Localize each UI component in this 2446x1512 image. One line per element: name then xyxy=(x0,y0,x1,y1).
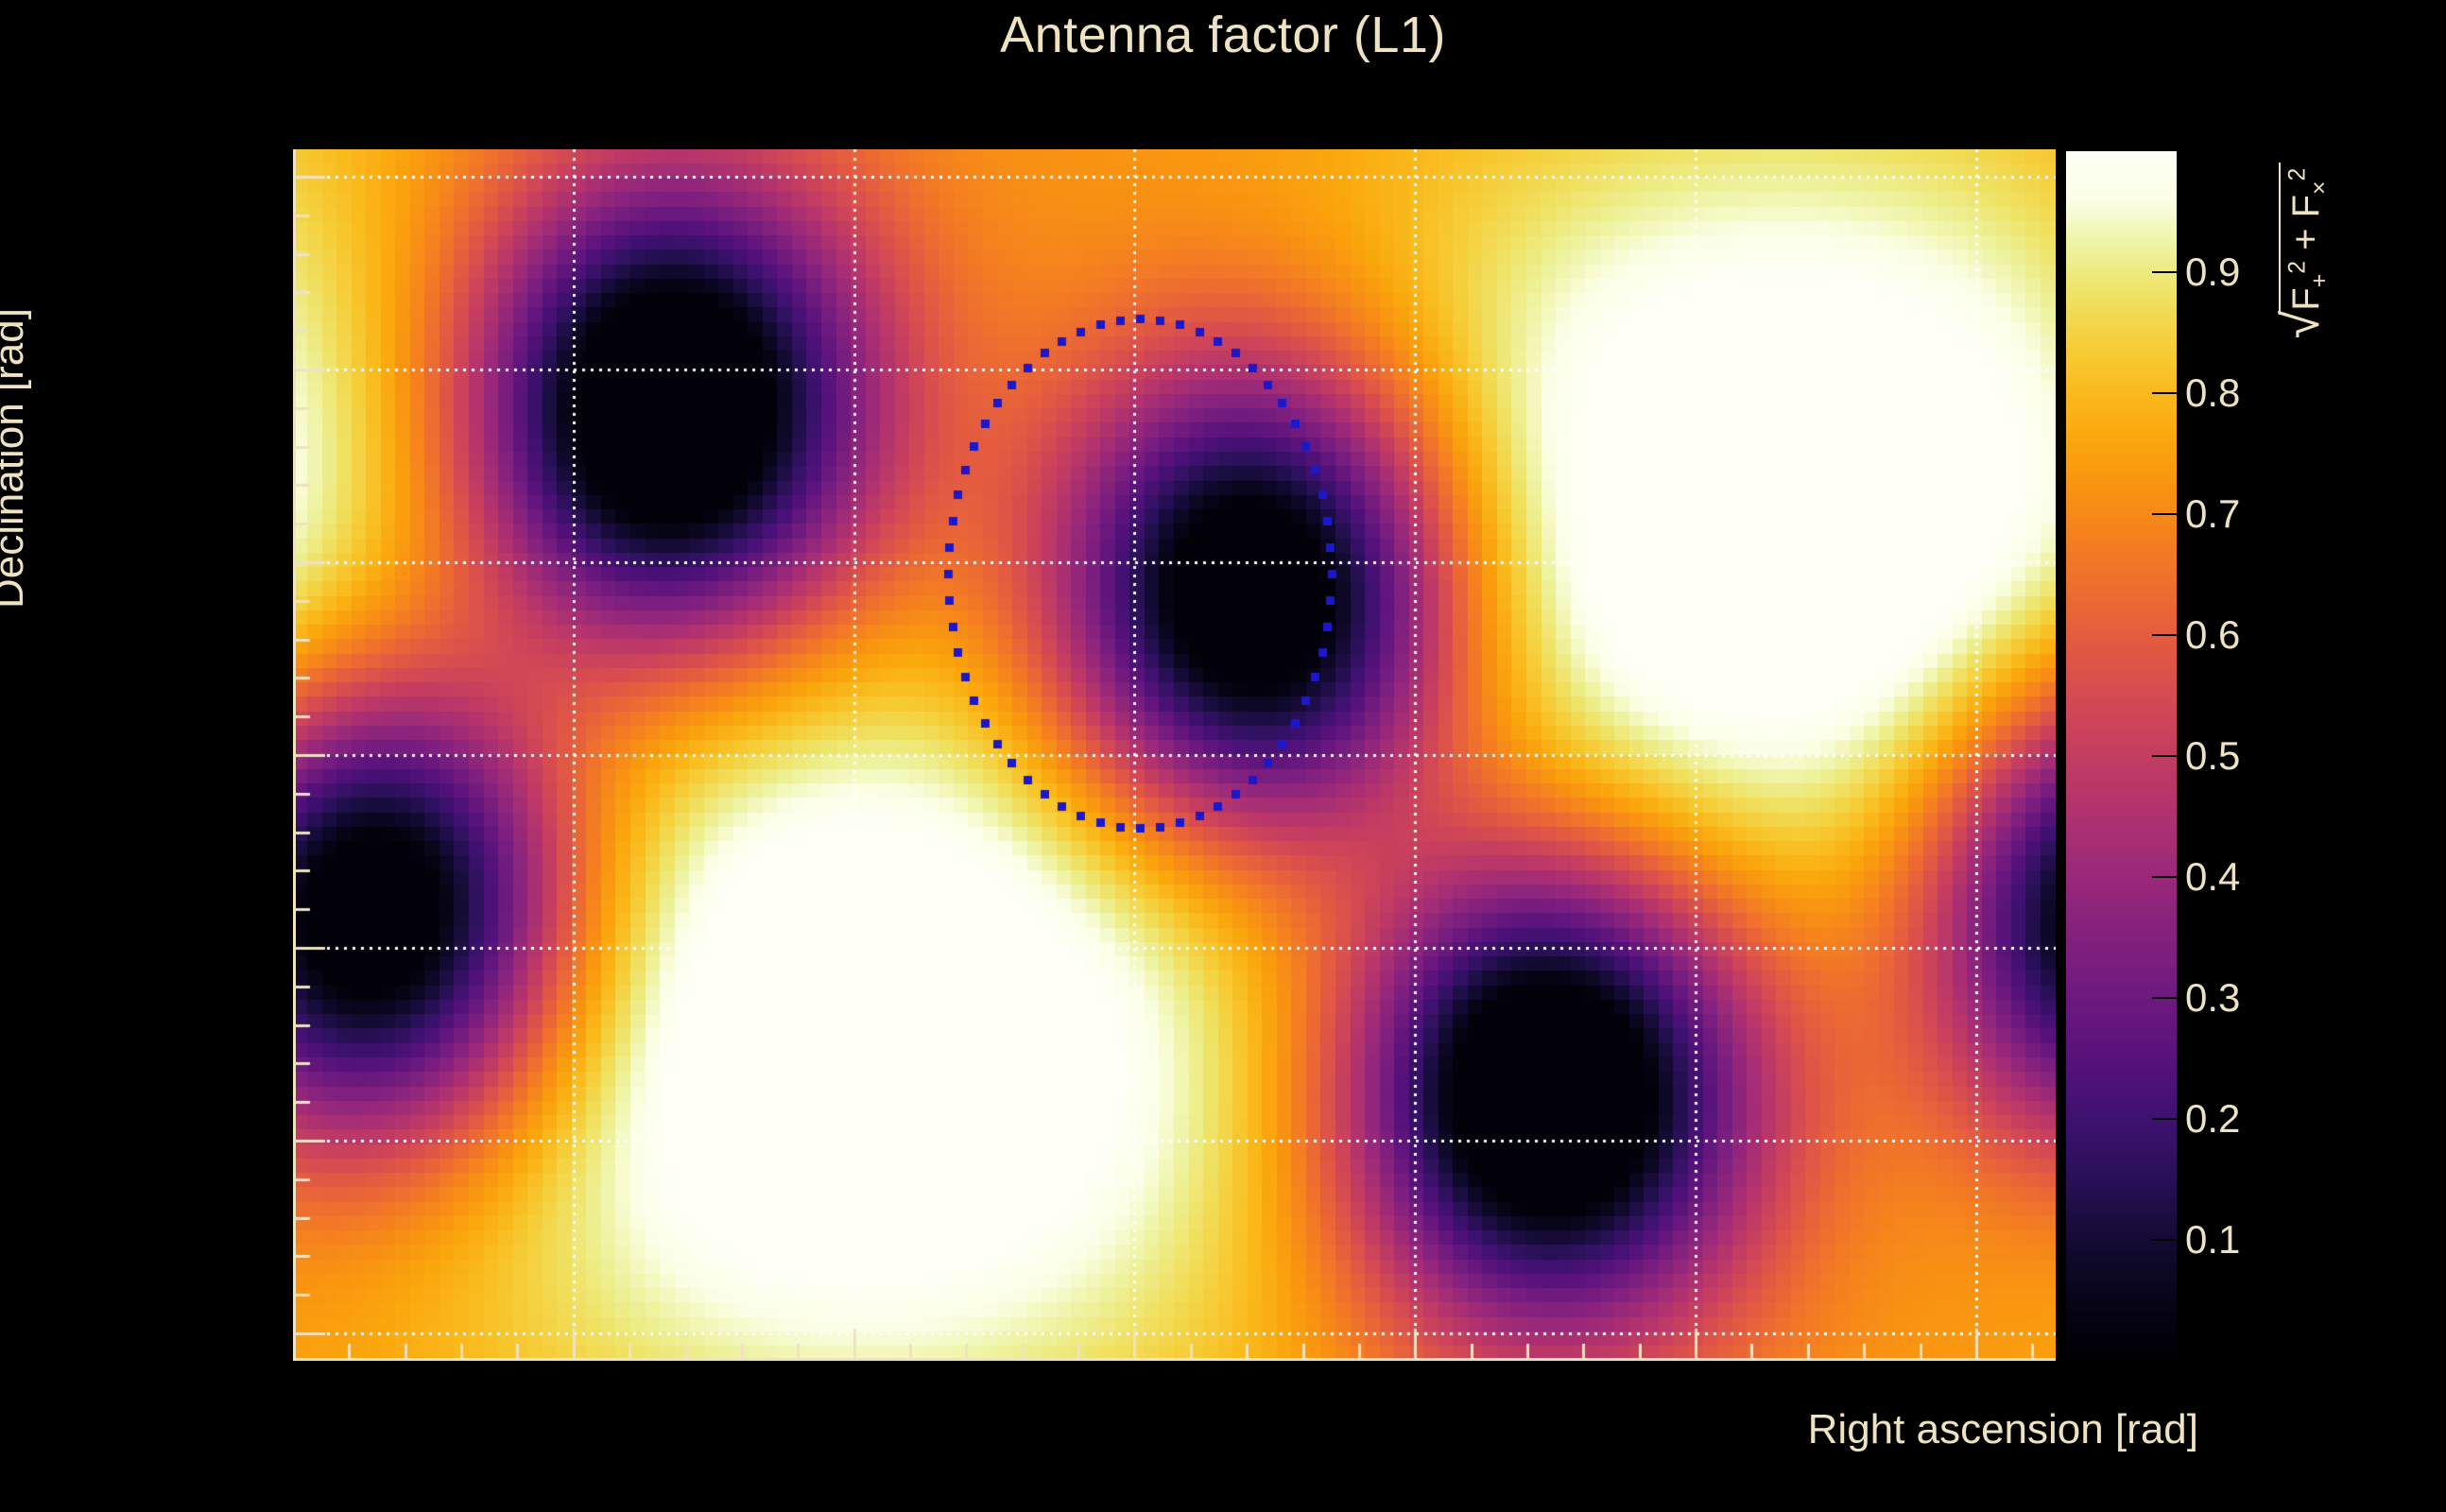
colorbar-tick xyxy=(2152,392,2177,394)
x-axis-tick-label: 3 xyxy=(1124,1376,1145,1421)
plus-operator: + xyxy=(2285,217,2327,249)
colorbar-tick-label: 0.7 xyxy=(2185,491,2240,537)
colorbar-tick xyxy=(2152,876,2177,878)
colorbar-tick-label: 0.1 xyxy=(2185,1217,2240,1263)
colorbar-title-host: √ F+2 + F×2 xyxy=(2249,94,2363,406)
x-axis-title: Right ascension [rad] xyxy=(1808,1406,2198,1453)
colorbar-tick-label: 0.4 xyxy=(2185,854,2240,900)
x-axis-tick-label: 4 xyxy=(1404,1376,1426,1421)
colorbar-tick xyxy=(2152,1118,2177,1120)
colorbar-title: √ F+2 + F×2 xyxy=(2265,94,2347,406)
sqrt-icon: √ xyxy=(2279,311,2333,339)
colorbar-tick-label: 0.5 xyxy=(2185,733,2240,779)
colorbar-tick xyxy=(2152,755,2177,757)
x-axis-tick-label: 2 xyxy=(843,1376,865,1421)
colorbar-tick xyxy=(2152,513,2177,515)
f-plus-term: F+2 xyxy=(2285,261,2327,311)
colorbar-tick xyxy=(2152,1239,2177,1241)
colorbar-tick-label: 0.3 xyxy=(2185,975,2240,1021)
x-axis-tick-label: 0 xyxy=(282,1376,303,1421)
colorbar-tick xyxy=(2152,271,2177,273)
colorbar[interactable]: 0.90.80.70.60.50.40.30.20.1 xyxy=(2066,151,2177,1361)
x-axis-tick-label: 1 xyxy=(562,1376,584,1421)
colorbar-tick xyxy=(2152,634,2177,636)
colorbar-tick-label: 0.2 xyxy=(2185,1096,2240,1142)
colorbar-tick-label: 0.9 xyxy=(2185,249,2240,295)
marker-ring-overlay xyxy=(293,149,2056,1361)
plot-canvas-root: Antenna factor (L1) Declination [rad] 1.… xyxy=(0,0,2446,1512)
colorbar-tick-label: 0.6 xyxy=(2185,612,2240,658)
colorbar-title-radicand: F+2 + F×2 xyxy=(2279,163,2333,315)
colorbar-tick xyxy=(2152,997,2177,999)
f-cross-term: F×2 xyxy=(2285,168,2327,218)
colorbar-tick-label: 0.8 xyxy=(2185,370,2240,416)
x-axis-tick-label: 5 xyxy=(1684,1376,1706,1421)
plot-area[interactable] xyxy=(293,149,2056,1361)
